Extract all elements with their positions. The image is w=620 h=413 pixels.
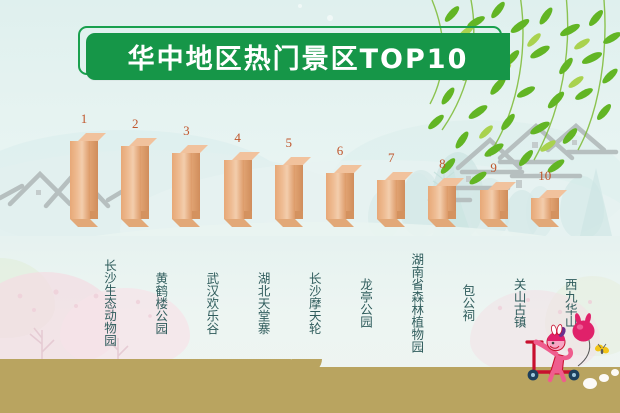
bar-bottom-side-face <box>295 211 303 219</box>
butterfly-icon <box>594 343 610 354</box>
dust-puff <box>611 369 619 376</box>
bar[interactable] <box>428 178 456 227</box>
infographic-canvas: 华中地区热门景区TOP10 1长沙生态动物园2黄鹤楼公园3武汉欢乐谷4湖北天堂寨… <box>0 0 620 413</box>
bar-front-face <box>172 153 192 219</box>
bar[interactable] <box>224 152 252 227</box>
bar-bottom-face <box>224 219 252 227</box>
bar-bottom-face <box>326 219 354 227</box>
bar[interactable] <box>531 190 559 227</box>
bar-top-face <box>385 172 413 180</box>
bar[interactable] <box>172 145 200 227</box>
dust-puff <box>583 378 597 389</box>
bar-front-face <box>275 165 295 219</box>
balloon-string <box>578 340 590 366</box>
bar-front-face <box>121 146 141 219</box>
bar-front-face <box>224 160 244 219</box>
dust-puff <box>599 374 609 382</box>
bar-side-face <box>90 141 98 219</box>
bar-bottom-face <box>428 219 456 227</box>
bar[interactable] <box>377 172 405 227</box>
bar-top-face <box>78 133 106 141</box>
rabbit-balloon-icon <box>573 313 595 342</box>
bar-bottom-face <box>275 219 303 227</box>
bar-bottom-side-face <box>397 211 405 219</box>
bar-bottom-face <box>531 219 559 227</box>
bar-front-face <box>377 180 397 219</box>
bar-bottom-side-face <box>141 211 149 219</box>
bar-side-face <box>192 153 200 219</box>
bar-bottom-face <box>70 219 98 227</box>
bar-top-face <box>129 138 157 146</box>
bar[interactable] <box>121 138 149 227</box>
bar-front-face <box>70 141 90 219</box>
bar-bottom-side-face <box>244 211 252 219</box>
bar-bottom-side-face <box>346 211 354 219</box>
bar-bottom-face <box>121 219 149 227</box>
bar-front-face <box>428 186 448 219</box>
bar-bottom-face <box>480 219 508 227</box>
bar-top-face <box>334 165 362 173</box>
bar-bottom-side-face <box>90 211 98 219</box>
bar[interactable] <box>326 165 354 227</box>
bar-front-face <box>326 173 346 219</box>
bar-bottom-side-face <box>551 211 559 219</box>
bar-bottom-face <box>172 219 200 227</box>
bar-top-face <box>232 152 260 160</box>
bar[interactable] <box>480 182 508 227</box>
bar-top-face <box>180 145 208 153</box>
bar-side-face <box>141 146 149 219</box>
bar-rank-label: 10 <box>513 168 577 184</box>
bar-bottom-side-face <box>500 211 508 219</box>
bar[interactable] <box>70 133 98 227</box>
bar-top-face <box>283 157 311 165</box>
bar-front-face <box>480 190 500 219</box>
bar-bottom-side-face <box>192 211 200 219</box>
bar-top-face <box>436 178 464 186</box>
bar-bottom-face <box>377 219 405 227</box>
bar-front-face <box>531 198 551 219</box>
bar-top-face <box>488 182 516 190</box>
bar[interactable] <box>275 157 303 227</box>
bar-bottom-side-face <box>448 211 456 219</box>
bar-top-face <box>539 190 567 198</box>
